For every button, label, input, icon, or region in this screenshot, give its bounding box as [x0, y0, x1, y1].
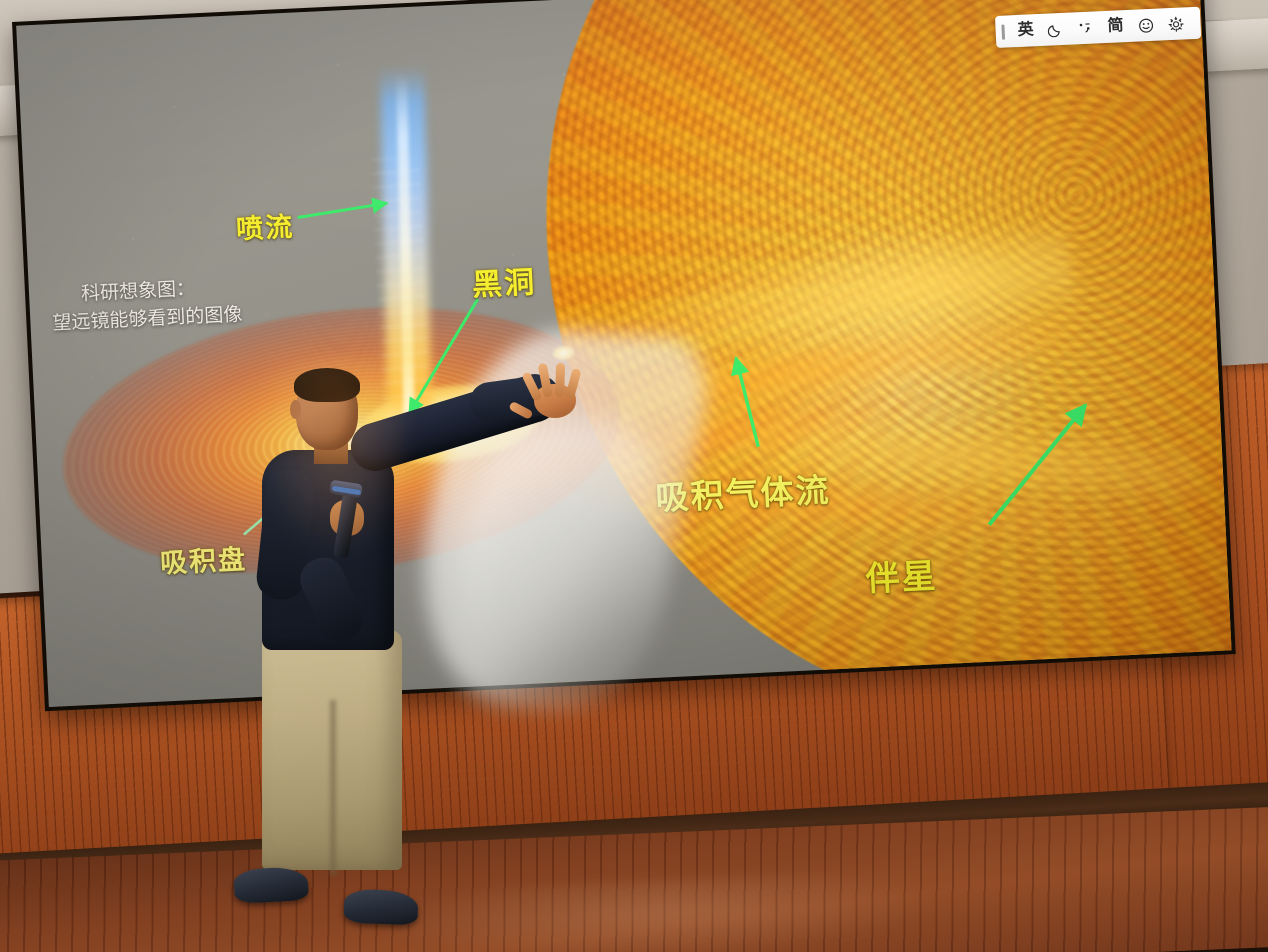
- presenter-hair: [294, 368, 360, 402]
- presenter: [0, 0, 1268, 952]
- finger-3: [555, 363, 565, 397]
- finger-4: [565, 368, 581, 399]
- presenter-hand-right: [524, 362, 586, 420]
- trouser-seam: [330, 700, 336, 875]
- presenter-shadow-soft: [455, 420, 665, 720]
- presenter-ear: [290, 400, 301, 419]
- screenshot-root: 科研想象图： 望远镜能够看到的图像 喷流 黑洞 吸积盘 吸积气体流 伴星 英: [0, 0, 1268, 952]
- presenter-shoe-right: [343, 889, 418, 926]
- presenter-shoe-left: [233, 866, 309, 904]
